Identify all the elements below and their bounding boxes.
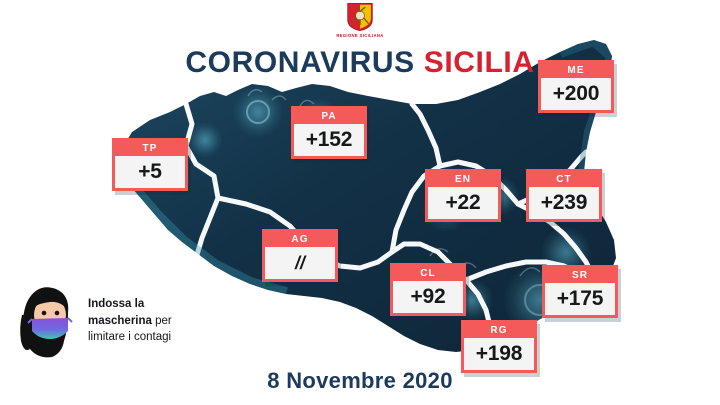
mask-notice-text: Indossa la mascherina per limitare i con…	[88, 296, 172, 346]
badge-province-code: ME	[541, 63, 611, 78]
badge-messina: ME+200	[538, 60, 614, 113]
badge-value: +239	[529, 187, 599, 219]
badge-value: +200	[541, 78, 611, 110]
trinacria-shield-icon	[345, 2, 375, 32]
title-sicilia: SICILIA	[424, 46, 535, 79]
badge-ragusa: RG+198	[461, 320, 537, 373]
title-coronavirus: CORONAVIRUS	[185, 46, 414, 79]
badge-province-code: CL	[393, 266, 463, 281]
badge-palermo: PA+152	[291, 106, 367, 159]
logo-caption: REGIONE SICILIANA	[336, 33, 383, 38]
badge-agrigento: AG//	[262, 229, 338, 282]
badge-value: +198	[464, 338, 534, 370]
badge-catania: CT+239	[526, 169, 602, 222]
masked-person-icon	[14, 281, 80, 361]
mask-notice-line3: limitare i contagi	[88, 331, 171, 343]
badge-enna: EN+22	[425, 169, 501, 222]
badge-value: +5	[115, 156, 185, 188]
badge-province-code: EN	[428, 172, 498, 187]
badge-value: //	[265, 247, 335, 279]
mask-notice-line2-regular: per	[152, 315, 172, 327]
badge-province-code: RG	[464, 323, 534, 338]
mask-notice-line1: Indossa la	[88, 298, 144, 310]
badge-value: +152	[294, 124, 364, 156]
date-label: 8 Novembre 2020	[0, 368, 720, 394]
poster-canvas: REGIONE SICILIANA CORONAVIRUS SICILIA TP…	[0, 0, 720, 405]
badge-province-code: SR	[545, 268, 615, 283]
badge-trapani: TP+5	[112, 138, 188, 191]
regione-siciliana-logo: REGIONE SICILIANA	[332, 2, 388, 42]
badge-province-code: CT	[529, 172, 599, 187]
mask-notice-line2-bold: mascherina	[88, 315, 152, 327]
badge-siracusa: SR+175	[542, 265, 618, 318]
badge-value: +175	[545, 283, 615, 315]
badge-province-code: AG	[265, 232, 335, 247]
badge-value: +22	[428, 187, 498, 219]
badge-province-code: TP	[115, 141, 185, 156]
badge-province-code: PA	[294, 109, 364, 124]
badge-value: +92	[393, 281, 463, 313]
badge-caltanissetta: CL+92	[390, 263, 466, 316]
mask-notice: Indossa la mascherina per limitare i con…	[14, 278, 214, 364]
